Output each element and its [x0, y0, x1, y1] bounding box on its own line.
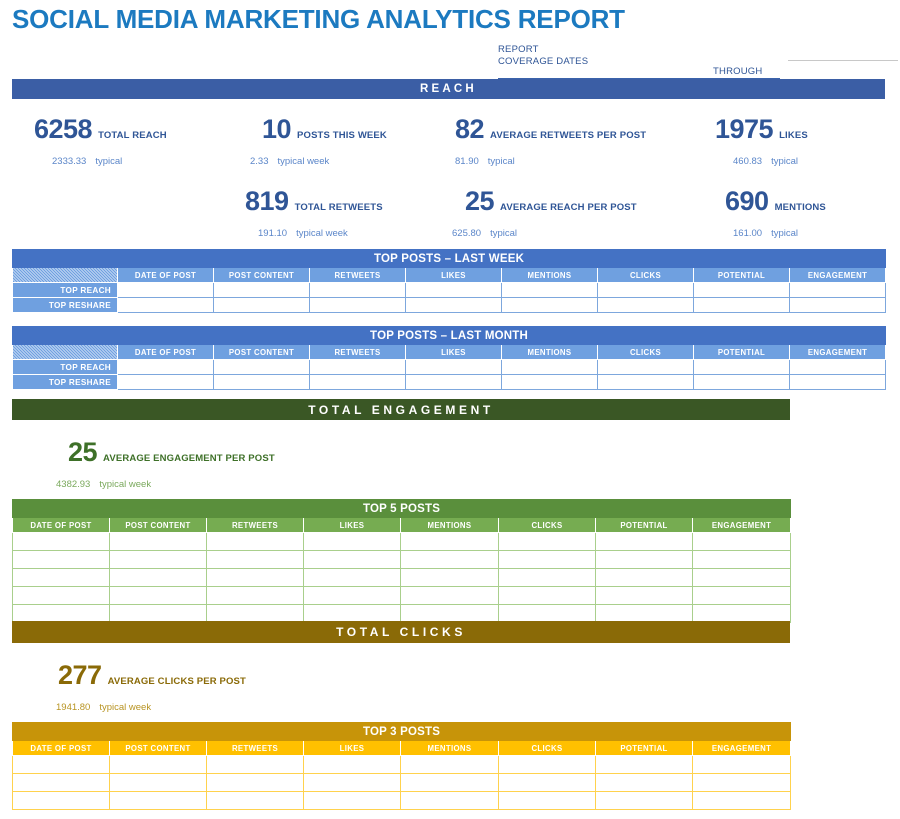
table-cell[interactable] [502, 360, 598, 375]
table-cell[interactable] [118, 298, 214, 313]
column-header: RETWEETS [310, 268, 406, 283]
kpi-value: 1975 [715, 114, 773, 145]
column-header: CLICKS [499, 518, 596, 533]
table-title-row: TOP POSTS – LAST WEEK [13, 250, 886, 268]
kpi-sub-label: typical week [278, 156, 330, 167]
table-cell[interactable] [596, 605, 693, 623]
kpi-sub-value: 81.90 [455, 156, 479, 167]
table-cell[interactable] [207, 533, 304, 551]
column-header: POST CONTENT [214, 268, 310, 283]
table-row[interactable]: TOP RESHARE [13, 298, 886, 313]
table-cell[interactable] [693, 587, 791, 605]
table-row[interactable] [13, 551, 791, 569]
table-top-5-posts[interactable]: TOP 5 POSTS DATE OF POST POST CONTENT RE… [12, 499, 791, 623]
table-row[interactable] [13, 605, 791, 623]
table-cell[interactable] [401, 792, 499, 810]
kpi-sub-value: 625.80 [452, 228, 481, 239]
table-cell[interactable] [499, 792, 596, 810]
table-cell[interactable] [110, 756, 207, 774]
table-cell[interactable] [304, 605, 401, 623]
coverage-label-line1: REPORT [498, 44, 628, 56]
table-title: TOP POSTS – LAST WEEK [13, 250, 886, 268]
column-header: CLICKS [598, 268, 694, 283]
table-cell[interactable] [499, 533, 596, 551]
table-cell[interactable] [499, 551, 596, 569]
kpi-posts-this-week: 10POSTS THIS WEEK [262, 114, 387, 145]
table-cell[interactable] [13, 551, 110, 569]
section-banner-reach: REACH [12, 79, 885, 99]
table-cell[interactable] [499, 756, 596, 774]
table-cell[interactable] [598, 360, 694, 375]
kpi-label: AVERAGE ENGAGEMENT PER POST [103, 453, 275, 464]
table-cell[interactable] [110, 533, 207, 551]
kpi-sub-average-engagement-per-post: 4382.93typical week [56, 479, 151, 490]
kpi-label: TOTAL REACH [98, 130, 167, 141]
table-cell[interactable] [693, 774, 791, 792]
table-cell[interactable] [693, 605, 791, 623]
table-cell[interactable] [214, 360, 310, 375]
table-corner-cell [13, 268, 118, 283]
table-cell[interactable] [207, 774, 304, 792]
table-cell[interactable] [118, 375, 214, 390]
column-header: ENGAGEMENT [790, 345, 886, 360]
table-title: TOP 5 POSTS [13, 500, 791, 518]
table-cell[interactable] [310, 283, 406, 298]
table-top-posts-last-month[interactable]: TOP POSTS – LAST MONTH DATE OF POST POST… [12, 326, 886, 390]
table-cell[interactable] [207, 792, 304, 810]
kpi-sub-label: typical week [99, 479, 151, 490]
table-header-row: DATE OF POST POST CONTENT RETWEETS LIKES… [13, 518, 791, 533]
table-cell[interactable] [118, 360, 214, 375]
table-cell[interactable] [502, 283, 598, 298]
column-header: ENGAGEMENT [693, 518, 791, 533]
kpi-sub-value: 460.83 [733, 156, 762, 167]
table-cell[interactable] [13, 569, 110, 587]
table-cell[interactable] [790, 298, 886, 313]
table-cell[interactable] [13, 756, 110, 774]
table-cell[interactable] [207, 569, 304, 587]
kpi-label: TOTAL RETWEETS [295, 202, 383, 213]
kpi-sub-label: typical week [99, 702, 151, 713]
table-cell[interactable] [13, 774, 110, 792]
table-cell[interactable] [401, 569, 499, 587]
table-cell[interactable] [596, 792, 693, 810]
table-cell[interactable] [596, 587, 693, 605]
kpi-value: 25 [68, 437, 97, 468]
table-row[interactable]: TOP REACH [13, 360, 886, 375]
table-cell[interactable] [596, 569, 693, 587]
column-header: POST CONTENT [110, 741, 207, 756]
column-header: MENTIONS [502, 268, 598, 283]
table-title-row: TOP 5 POSTS [13, 500, 791, 518]
table-cell[interactable] [596, 756, 693, 774]
table-cell[interactable] [304, 756, 401, 774]
table-cell[interactable] [13, 792, 110, 810]
kpi-mentions: 690MENTIONS [725, 186, 826, 217]
table-corner-cell [13, 345, 118, 360]
table-row[interactable] [13, 533, 791, 551]
table-row[interactable]: TOP RESHARE [13, 375, 886, 390]
table-cell[interactable] [401, 756, 499, 774]
kpi-value: 819 [245, 186, 289, 217]
kpi-average-engagement-per-post: 25AVERAGE ENGAGEMENT PER POST [68, 437, 275, 468]
table-cell[interactable] [110, 569, 207, 587]
table-cell[interactable] [694, 298, 790, 313]
kpi-sub-value: 161.00 [733, 228, 762, 239]
table-cell[interactable] [207, 551, 304, 569]
column-header: POTENTIAL [596, 741, 693, 756]
table-cell[interactable] [304, 533, 401, 551]
column-header: ENGAGEMENT [790, 268, 886, 283]
kpi-total-reach: 6258TOTAL REACH [34, 114, 167, 145]
table-cell[interactable] [401, 774, 499, 792]
kpi-sub-value: 191.10 [258, 228, 287, 239]
column-header: POST CONTENT [214, 345, 310, 360]
table-cell[interactable] [110, 605, 207, 623]
row-label: TOP RESHARE [13, 375, 118, 390]
table-cell[interactable] [693, 756, 791, 774]
kpi-sub-average-clicks-per-post: 1941.80typical week [56, 702, 151, 713]
kpi-label: LIKES [779, 130, 808, 141]
column-header: MENTIONS [401, 518, 499, 533]
kpi-sub-label: typical week [296, 228, 348, 239]
column-header: POTENTIAL [694, 268, 790, 283]
table-cell[interactable] [693, 792, 791, 810]
table-top-posts-last-week[interactable]: TOP POSTS – LAST WEEK DATE OF POST POST … [12, 249, 886, 313]
table-header-row: DATE OF POST POST CONTENT RETWEETS LIKES… [13, 345, 886, 360]
table-cell[interactable] [502, 375, 598, 390]
table-cell[interactable] [207, 587, 304, 605]
table-cell[interactable] [207, 605, 304, 623]
column-header: DATE OF POST [13, 518, 110, 533]
table-row[interactable] [13, 792, 791, 810]
kpi-value: 277 [58, 660, 102, 691]
column-header: CLICKS [499, 741, 596, 756]
table-cell[interactable] [406, 375, 502, 390]
table-cell[interactable] [13, 587, 110, 605]
column-header: MENTIONS [401, 741, 499, 756]
table-cell[interactable] [214, 298, 310, 313]
table-cell[interactable] [110, 774, 207, 792]
kpi-label: POSTS THIS WEEK [297, 130, 387, 141]
table-cell[interactable] [790, 375, 886, 390]
table-cell[interactable] [693, 551, 791, 569]
column-header: LIKES [406, 345, 502, 360]
kpi-sub-label: typical [771, 228, 798, 239]
table-cell[interactable] [406, 283, 502, 298]
column-header: CLICKS [598, 345, 694, 360]
table-cell[interactable] [214, 283, 310, 298]
table-cell[interactable] [401, 605, 499, 623]
table-row[interactable] [13, 587, 791, 605]
table-cell[interactable] [598, 298, 694, 313]
kpi-value: 10 [262, 114, 291, 145]
table-cell[interactable] [13, 605, 110, 623]
column-header: RETWEETS [207, 741, 304, 756]
table-cell[interactable] [401, 533, 499, 551]
table-title-row: TOP 3 POSTS [13, 723, 791, 741]
column-header: LIKES [406, 268, 502, 283]
column-header: RETWEETS [207, 518, 304, 533]
table-cell[interactable] [598, 375, 694, 390]
table-cell[interactable] [596, 774, 693, 792]
table-cell[interactable] [118, 283, 214, 298]
table-top-3-posts[interactable]: TOP 3 POSTS DATE OF POST POST CONTENT RE… [12, 722, 791, 810]
table-title: TOP POSTS – LAST MONTH [13, 327, 886, 345]
table-header-row: DATE OF POST POST CONTENT RETWEETS LIKES… [13, 268, 886, 283]
kpi-value: 6258 [34, 114, 92, 145]
kpi-sub-label: typical [771, 156, 798, 167]
kpi-sub-average-reach-per-post: 625.80typical [452, 228, 517, 239]
table-row[interactable] [13, 774, 791, 792]
table-cell[interactable] [304, 774, 401, 792]
kpi-sub-likes: 460.83typical [733, 156, 798, 167]
kpi-sub-total-retweets: 191.10typical week [258, 228, 348, 239]
report-page: SOCIAL MEDIA MARKETING ANALYTICS REPORT … [0, 0, 900, 819]
page-title: SOCIAL MEDIA MARKETING ANALYTICS REPORT [12, 4, 625, 35]
column-header: POTENTIAL [694, 345, 790, 360]
row-label: TOP REACH [13, 360, 118, 375]
kpi-sub-mentions: 161.00typical [733, 228, 798, 239]
kpi-sub-value: 2333.33 [52, 156, 86, 167]
kpi-label: MENTIONS [775, 202, 826, 213]
kpi-value: 82 [455, 114, 484, 145]
table-row[interactable] [13, 756, 791, 774]
kpi-average-reach-per-post: 25AVERAGE REACH PER POST [465, 186, 637, 217]
column-header: DATE OF POST [118, 345, 214, 360]
table-cell[interactable] [499, 605, 596, 623]
table-cell[interactable] [310, 360, 406, 375]
kpi-sub-value: 1941.80 [56, 702, 90, 713]
table-cell[interactable] [598, 283, 694, 298]
table-cell[interactable] [694, 283, 790, 298]
column-header: DATE OF POST [13, 741, 110, 756]
kpi-value: 690 [725, 186, 769, 217]
table-cell[interactable] [110, 551, 207, 569]
table-cell[interactable] [499, 569, 596, 587]
table-cell[interactable] [693, 533, 791, 551]
kpi-label: AVERAGE REACH PER POST [500, 202, 637, 213]
table-cell[interactable] [401, 551, 499, 569]
kpi-sub-value: 4382.93 [56, 479, 90, 490]
kpi-sub-posts-this-week: 2.33typical week [250, 156, 329, 167]
through-label: THROUGH [713, 66, 762, 77]
kpi-value: 25 [465, 186, 494, 217]
table-row[interactable]: TOP REACH [13, 283, 886, 298]
column-header: POTENTIAL [596, 518, 693, 533]
kpi-total-retweets: 819TOTAL RETWEETS [245, 186, 383, 217]
table-cell[interactable] [304, 587, 401, 605]
table-cell[interactable] [304, 569, 401, 587]
kpi-sub-label: typical [490, 228, 517, 239]
table-row[interactable] [13, 569, 791, 587]
row-label: TOP REACH [13, 283, 118, 298]
column-header: LIKES [304, 518, 401, 533]
column-header: LIKES [304, 741, 401, 756]
table-cell[interactable] [596, 533, 693, 551]
kpi-sub-total-reach: 2333.33typical [52, 156, 122, 167]
kpi-likes: 1975LIKES [715, 114, 808, 145]
table-title: TOP 3 POSTS [13, 723, 791, 741]
table-cell[interactable] [499, 587, 596, 605]
column-header: ENGAGEMENT [693, 741, 791, 756]
table-header-row: DATE OF POST POST CONTENT RETWEETS LIKES… [13, 741, 791, 756]
table-title-row: TOP POSTS – LAST MONTH [13, 327, 886, 345]
kpi-average-clicks-per-post: 277AVERAGE CLICKS PER POST [58, 660, 246, 691]
table-cell[interactable] [790, 283, 886, 298]
kpi-label: AVERAGE RETWEETS PER POST [490, 130, 646, 141]
kpi-sub-label: typical [488, 156, 515, 167]
table-cell[interactable] [110, 792, 207, 810]
table-cell[interactable] [304, 792, 401, 810]
section-banner-total-clicks: TOTAL CLICKS [12, 621, 790, 643]
table-cell[interactable] [401, 587, 499, 605]
column-header: DATE OF POST [118, 268, 214, 283]
kpi-sub-average-retweets-per-post: 81.90typical [455, 156, 515, 167]
table-cell[interactable] [110, 587, 207, 605]
table-cell[interactable] [406, 298, 502, 313]
table-cell[interactable] [310, 298, 406, 313]
table-cell[interactable] [207, 756, 304, 774]
kpi-sub-value: 2.33 [250, 156, 269, 167]
kpi-average-retweets-per-post: 82AVERAGE RETWEETS PER POST [455, 114, 646, 145]
table-cell[interactable] [694, 375, 790, 390]
date-to-field[interactable] [788, 38, 898, 61]
table-cell[interactable] [502, 298, 598, 313]
table-cell[interactable] [406, 360, 502, 375]
section-banner-total-engagement: TOTAL ENGAGEMENT [12, 399, 790, 420]
column-header: RETWEETS [310, 345, 406, 360]
table-cell[interactable] [13, 533, 110, 551]
kpi-sub-label: typical [95, 156, 122, 167]
table-cell[interactable] [693, 569, 791, 587]
table-cell[interactable] [596, 551, 693, 569]
table-cell[interactable] [310, 375, 406, 390]
row-label: TOP RESHARE [13, 298, 118, 313]
table-cell[interactable] [499, 774, 596, 792]
report-coverage-dates: REPORT COVERAGE DATES THROUGH [498, 44, 898, 78]
column-header: MENTIONS [502, 345, 598, 360]
kpi-label: AVERAGE CLICKS PER POST [108, 676, 246, 687]
column-header: POST CONTENT [110, 518, 207, 533]
table-cell[interactable] [790, 360, 886, 375]
table-cell[interactable] [214, 375, 310, 390]
table-cell[interactable] [694, 360, 790, 375]
table-cell[interactable] [304, 551, 401, 569]
